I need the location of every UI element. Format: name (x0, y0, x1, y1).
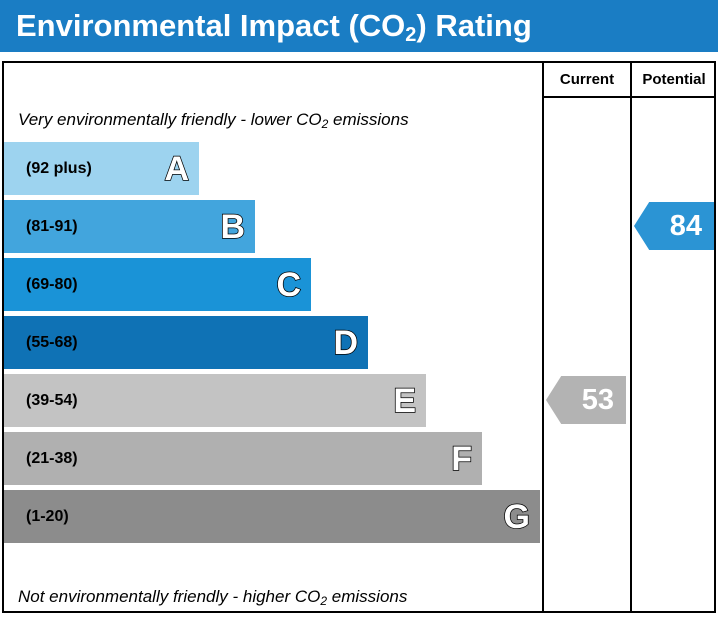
page-title-subscript: 2 (405, 24, 416, 46)
caption-top-prefix: Very environmentally friendly - lower CO (18, 110, 322, 129)
column-header-current: Current (544, 69, 630, 91)
band-c-letter: C (276, 268, 301, 302)
band-a-letter: A (164, 152, 189, 186)
band-f-letter: F (451, 442, 472, 476)
current-rating-marker: 53 (546, 376, 626, 424)
caption-top: Very environmentally friendly - lower CO… (18, 110, 409, 130)
band-a: (92 plus) A (4, 142, 199, 195)
column-divider-potential (630, 63, 632, 611)
page-title-prefix: Environmental Impact (CO (16, 8, 405, 43)
caption-bottom-prefix: Not environmentally friendly - higher CO (18, 587, 320, 606)
band-e-letter: E (393, 384, 416, 418)
caption-top-subscript: 2 (322, 117, 329, 131)
band-b-range: (81-91) (26, 218, 78, 236)
epc-environmental-impact-chart: Environmental Impact (CO2) Rating Curren… (0, 0, 718, 619)
band-f: (21-38) F (4, 432, 482, 485)
band-a-range: (92 plus) (26, 160, 92, 178)
band-d: (55-68) D (4, 316, 368, 369)
page-title-suffix: ) Rating (416, 8, 531, 43)
column-header-potential: Potential (632, 69, 716, 91)
band-c-range: (69-80) (26, 276, 78, 294)
potential-rating-value: 84 (670, 210, 702, 243)
caption-top-suffix: emissions (328, 110, 408, 129)
band-g: (1-20) G (4, 490, 540, 543)
chart-grid: Current Potential Very environmentally f… (2, 61, 716, 613)
band-e-range: (39-54) (26, 392, 78, 410)
caption-bottom: Not environmentally friendly - higher CO… (18, 587, 407, 607)
band-f-range: (21-38) (26, 450, 78, 468)
chart-title-bar: Environmental Impact (CO2) Rating (0, 0, 718, 52)
band-g-range: (1-20) (26, 508, 69, 526)
band-c: (69-80) C (4, 258, 311, 311)
page-title: Environmental Impact (CO2) Rating (16, 8, 532, 44)
caption-bottom-subscript: 2 (320, 594, 327, 608)
band-d-letter: D (333, 326, 358, 360)
potential-rating-marker: 84 (634, 202, 714, 250)
band-b: (81-91) B (4, 200, 255, 253)
current-rating-value: 53 (582, 384, 614, 417)
band-b-letter: B (220, 210, 245, 244)
band-g-letter: G (504, 500, 530, 534)
band-e: (39-54) E (4, 374, 426, 427)
band-d-range: (55-68) (26, 334, 78, 352)
caption-bottom-suffix: emissions (327, 587, 407, 606)
header-divider (542, 96, 714, 98)
column-divider-current (542, 63, 544, 611)
rating-bands: (92 plus) A (81-91) B (69-80) C (55-68) … (4, 142, 540, 579)
